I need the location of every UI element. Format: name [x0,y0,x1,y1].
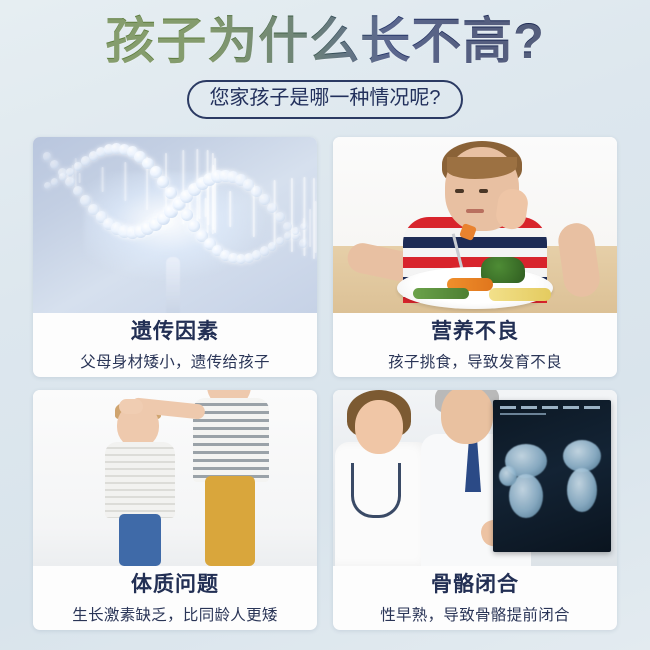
hand-over-head [119,399,143,414]
dna-bead [276,237,284,245]
dna-bead [292,227,299,234]
card-malnutrition-text: 营养不良 孩子挑食，导致发育不良 [333,313,617,377]
dna-bead [268,242,277,251]
female-doctor-head [355,400,403,454]
dna-bead [299,239,308,248]
right-tibia [567,468,597,512]
doctors-reviewing-xray-photo [333,390,617,566]
boy-left-eye [455,189,464,193]
card-malnutrition-title: 营养不良 [431,315,519,345]
card-malnutrition-description: 孩子挑食，导致发育不良 [388,350,562,372]
dna-bead [275,212,285,222]
dna-rung [291,178,293,252]
knee-xray-film [493,400,611,552]
dna-bead [73,186,83,196]
yellow-squash-sticks [489,288,551,301]
card-genetics[interactable]: 遗传因素 父母身材矮小，遗传给孩子 [33,137,317,377]
left-patella [499,466,517,486]
boy-right-eye [479,189,488,193]
subtitle-container: 您家孩子是哪一种情况呢? [0,80,650,119]
taller-boy-mustard-pants [205,476,255,566]
dna-rung [273,180,275,245]
subtitle-pill: 您家孩子是哪一种情况呢? [187,80,462,119]
dna-bead [43,152,52,161]
card-malnutrition[interactable]: 营养不良 孩子挑食，导致发育不良 [333,137,617,377]
dna-bead [181,209,193,221]
shorter-boy-jeans [119,514,161,566]
card-constitution[interactable]: 体质问题 生长激素缺乏，比同龄人更矮 [33,390,317,630]
dna-stem [166,257,180,313]
dna-rung [309,209,311,247]
dna-bead [51,178,58,185]
card-bone-closure-text: 骨骼闭合 性早熟，导致骨骼提前闭合 [333,566,617,630]
dna-rung [315,201,317,253]
card-genetics-title: 遗传因素 [131,315,219,345]
dna-bead [300,223,307,230]
dna-rung [230,191,232,227]
dna-rung [214,158,216,233]
boy-refusing-vegetables-photo [333,137,617,313]
dna-bead [65,177,75,187]
boy-right-arm [556,221,602,299]
male-doctor-head [441,390,493,444]
poster-header: 孩子为什么长不高? 您家孩子是哪一种情况呢? [0,0,650,119]
card-constitution-title: 体质问题 [131,568,219,598]
card-constitution-description: 生长激素缺乏，比同龄人更矮 [72,603,277,625]
card-genetics-description: 父母身材矮小，遗传给孩子 [80,350,270,372]
dna-double-helix-photo [33,137,317,313]
boy-mouth [466,209,484,213]
xray-header-text [500,406,604,409]
card-bone-closure[interactable]: 骨骼闭合 性早熟，导致骨骼提前闭合 [333,390,617,630]
dna-rung [79,173,81,183]
dna-rung [124,162,126,201]
green-beans [413,288,469,299]
dna-bead [50,160,59,169]
xray-subheader-text [500,413,546,415]
card-constitution-text: 体质问题 生长激素缺乏，比同龄人更矮 [33,566,317,630]
dna-rung [102,167,104,192]
page-title: 孩子为什么长不高? [105,14,545,68]
cards-grid: 遗传因素 父母身材矮小，遗传给孩子 [33,137,617,630]
card-bone-closure-title: 骨骼闭合 [431,568,519,598]
stethoscope [351,463,401,518]
card-genetics-text: 遗传因素 父母身材矮小，遗传给孩子 [33,313,317,377]
poster-root: 孩子为什么长不高? 您家孩子是哪一种情况呢? 遗传因素 父母身材矮小，遗传给孩子 [0,0,650,650]
two-boys-height-comparison-photo [33,390,317,566]
card-bone-closure-description: 性早熟，导致骨骼提前闭合 [380,603,570,625]
dna-bead [157,176,169,188]
shorter-boy-shirt [105,442,175,518]
dna-rung [204,198,206,217]
dna-bead [44,182,51,189]
